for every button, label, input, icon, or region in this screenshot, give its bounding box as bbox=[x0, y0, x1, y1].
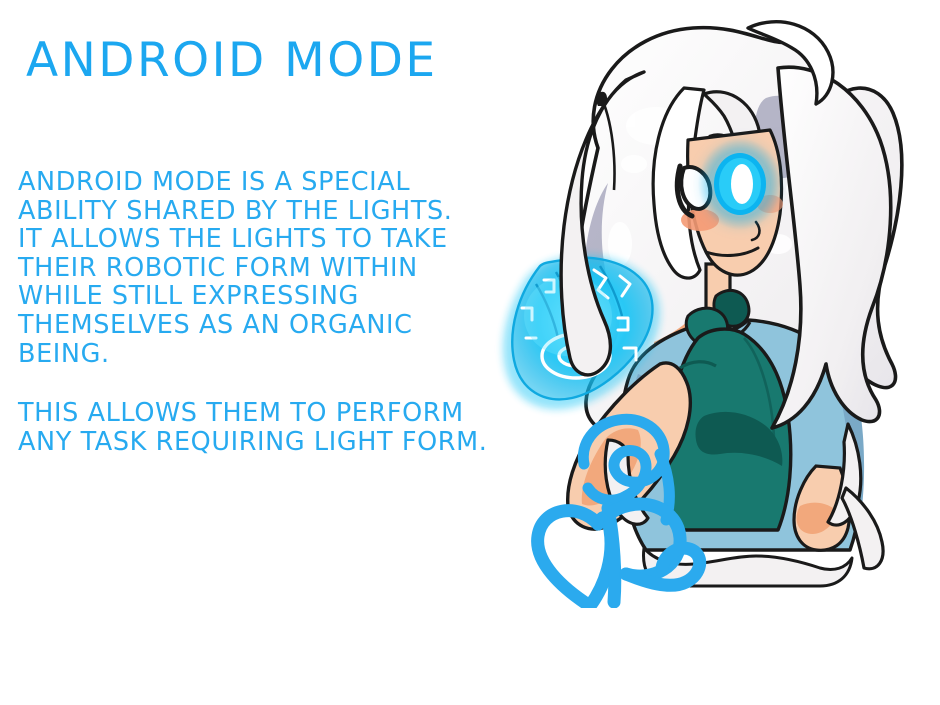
glowing-eye bbox=[698, 138, 782, 230]
eye-pupil bbox=[731, 164, 753, 204]
page-title: ANDROID MODE bbox=[26, 37, 438, 84]
artist-signature bbox=[522, 396, 732, 608]
illustration-page: ANDROID MODE ANDROID MODE IS A SPECIAL A… bbox=[0, 0, 940, 705]
